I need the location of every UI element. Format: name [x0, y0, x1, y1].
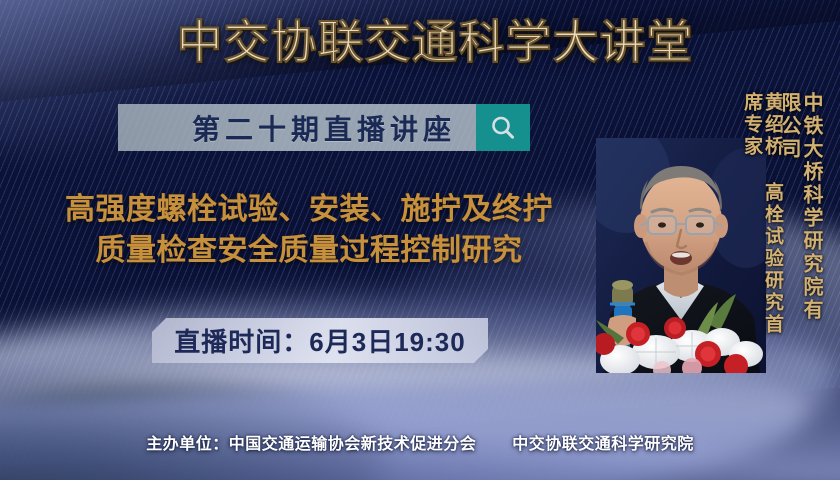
headline-line-1: 高强度螺栓试验、安装、施拧及终拧 — [65, 193, 553, 226]
speaker-credit-outer: 中铁大桥科学研究院有限公司 — [778, 92, 822, 342]
subtitle-label: 第二十期直播讲座 — [192, 108, 456, 148]
speaker-credit-inner: 黄绍桥 高栓试验研究首席专家 — [740, 92, 782, 342]
footer-institute-label: 中交协联交通科学研究院 — [512, 436, 694, 453]
footer-organizer-label: 主办单位：中国交通运输协会新技术促进分会 — [146, 436, 476, 453]
broadcast-time-label: 直播时间：6月3日19:30 — [174, 322, 465, 359]
search-button[interactable] — [476, 104, 530, 151]
poster-canvas: 中交协联交通科学大讲堂 第二十期直播讲座 高强度螺栓试验、安装、施拧及终拧 质量… — [0, 0, 840, 480]
subtitle-bar: 第二十期直播讲座 — [118, 104, 476, 151]
search-icon — [488, 113, 518, 143]
page-title: 中交协联交通科学大讲堂 — [0, 18, 840, 68]
subtitle-banner: 第二十期直播讲座 — [118, 104, 530, 151]
broadcast-time-badge: 直播时间：6月3日19:30 — [152, 318, 488, 363]
headline-line-2: 质量检查安全质量过程控制研究 — [14, 231, 604, 272]
footer-organizers: 主办单位：中国交通运输协会新技术促进分会 中交协联交通科学研究院 — [0, 430, 840, 454]
lecture-headline: 高强度螺栓试验、安装、施拧及终拧 质量检查安全质量过程控制研究 — [14, 190, 604, 271]
